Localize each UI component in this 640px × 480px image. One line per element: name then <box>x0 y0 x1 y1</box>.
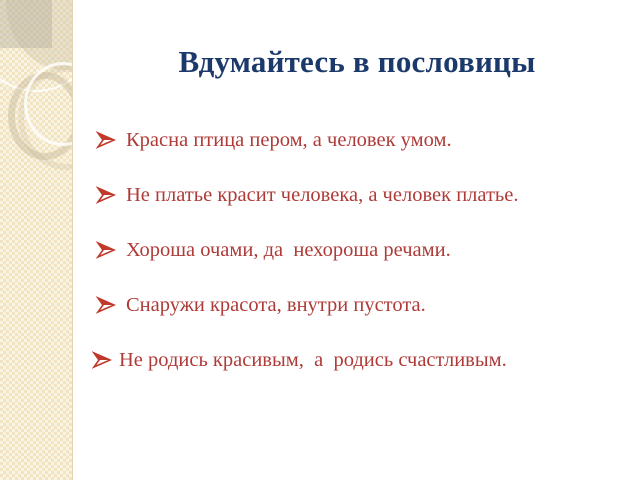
proverb-text: Не родись красивым, а родись счастливым. <box>100 346 507 373</box>
arrowhead-right-icon <box>96 240 116 260</box>
list-item: Снаружи красота, внутри пустота. <box>74 291 640 346</box>
arrowhead-right-icon <box>96 295 116 315</box>
arrowhead-right-icon <box>96 130 116 150</box>
list-item: Хороша очами, да нехороша речами. <box>74 236 640 291</box>
slide-content-area: Вдумайтесь в пословицы Красна птица перо… <box>74 0 640 480</box>
presentation-slide: Вдумайтесь в пословицы Красна птица перо… <box>0 0 640 480</box>
proverb-list: Красна птица пером, а человек умом. Не п… <box>74 126 640 401</box>
list-item: Не родись красивым, а родись счастливым. <box>74 346 640 401</box>
arrowhead-right-icon <box>96 185 116 205</box>
page-title: Вдумайтесь в пословицы <box>74 44 640 80</box>
proverb-text: Снаружи красота, внутри пустота. <box>100 291 426 318</box>
slide-decorative-side-panel <box>0 0 73 480</box>
list-item: Не платье красит человека, а человек пла… <box>74 181 640 236</box>
proverb-text: Хороша очами, да нехороша речами. <box>100 236 451 263</box>
arrowhead-right-icon <box>92 350 112 370</box>
proverb-text: Красна птица пером, а человек умом. <box>100 126 452 153</box>
proverb-text: Не платье красит человека, а человек пла… <box>100 181 519 208</box>
list-item: Красна птица пером, а человек умом. <box>74 126 640 181</box>
